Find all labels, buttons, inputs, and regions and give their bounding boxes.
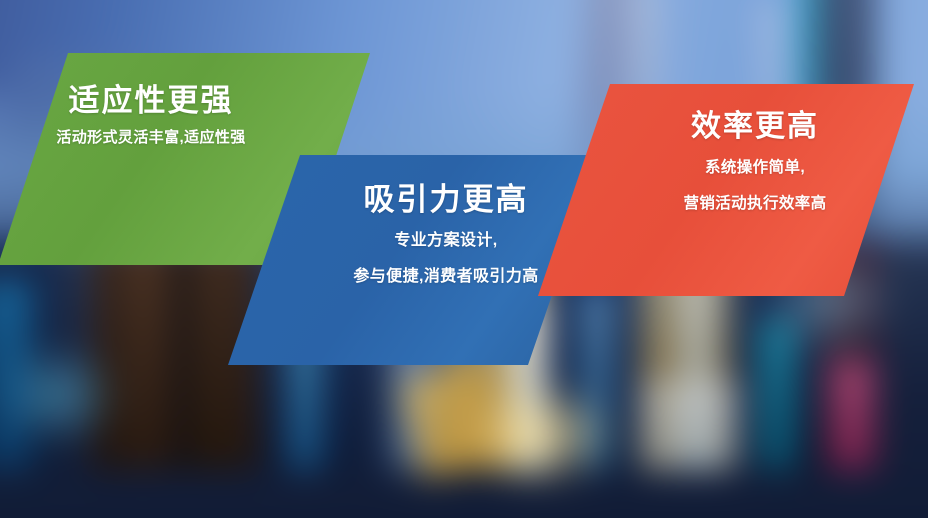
night-building [830,360,874,470]
feature-subtitle-efficiency-line-1: 系统操作简单, [596,156,914,179]
night-building [180,240,192,470]
night-glow [460,380,620,490]
night-building [202,240,218,470]
feature-panel-efficiency: 效率更高 系统操作简单, 营销活动执行效率高 [538,84,914,296]
feature-panel-efficiency-copy: 效率更高 系统操作简单, 营销活动执行效率高 [538,84,914,216]
feature-title-efficiency: 效率更高 [596,110,914,143]
infographic-stage: 适应性更强 活动形式灵活丰富,适应性强 吸引力更高 专业方案设计, 参与便捷,消… [0,0,928,518]
night-glow [0,340,120,450]
feature-panel-adaptability-copy: 适应性更强 活动形式灵活丰富,适应性强 [0,53,370,150]
feature-subtitle-adaptability-line-1: 活动形式灵活丰富,适应性强 [0,127,304,150]
feature-title-adaptability: 适应性更强 [0,84,304,118]
feature-subtitle-efficiency-line-2: 营销活动执行效率高 [596,192,914,215]
night-building [136,240,154,470]
